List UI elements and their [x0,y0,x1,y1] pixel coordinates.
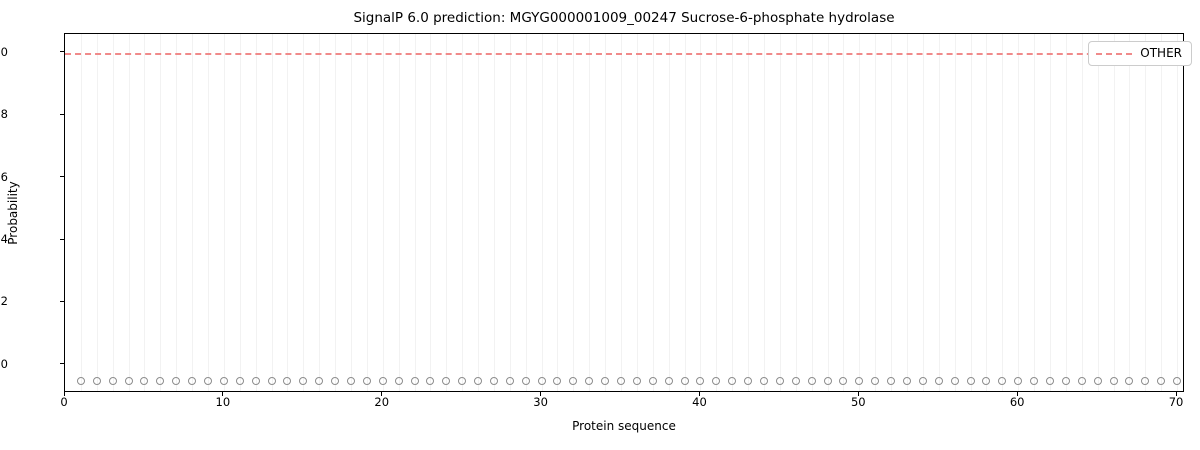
y-tick-mark [60,363,64,364]
residue-letter: P [690,392,710,393]
residue-marker [569,377,577,385]
residue-marker [490,377,498,385]
residue-marker [506,377,514,385]
gridline [383,34,384,391]
gridline [208,34,209,391]
residue-marker [649,377,657,385]
gridline [192,34,193,391]
gridline [287,34,288,391]
other-probability-line [65,53,1183,55]
gridline [1002,34,1003,391]
x-axis-label: Protein sequence [64,419,1184,433]
residue-letter: I [484,392,504,393]
residue-letter: L [611,392,631,393]
gridline [907,34,908,391]
gridline [637,34,638,391]
gridline [1098,34,1099,391]
residue-marker [1078,377,1086,385]
residue-marker [283,377,291,385]
residue-marker [839,377,847,385]
residue-marker [824,377,832,385]
residue-marker [411,377,419,385]
residue-letter: D [532,392,552,393]
residue-letter: G [357,392,377,393]
residue-letter: R [468,392,488,393]
y-tick-label: 0.2 [0,295,8,307]
legend-label-other: OTHER [1140,47,1182,60]
residue-letter: G [929,392,949,393]
residue-marker [919,377,927,385]
residue-marker [1062,377,1070,385]
residue-marker [681,377,689,385]
residue-letter: V [182,392,202,393]
gridline [272,34,273,391]
residue-marker [172,377,180,385]
gridline [875,34,876,391]
residue-letter: D [563,392,583,393]
residue-letter: D [389,392,409,393]
gridline [971,34,972,391]
residue-letter: N [786,392,806,393]
residue-letter: V [659,392,679,393]
residue-letter: E [706,392,726,393]
x-tick-label: 60 [997,396,1037,409]
gridline [399,34,400,391]
gridline [240,34,241,391]
residue-marker [617,377,625,385]
residue-letter: D [246,392,266,393]
residue-marker [474,377,482,385]
gridline [1145,34,1146,391]
residue-letter: K [134,392,154,393]
gridline [129,34,130,391]
residue-marker [744,377,752,385]
y-tick-mark [60,301,64,302]
x-tick-label: 0 [44,396,84,409]
residue-marker [998,377,1006,385]
gridline [367,34,368,391]
y-tick-label: 0.8 [0,108,8,120]
gridline [1050,34,1051,391]
page-title: SignalP 6.0 prediction: MGYG000001009_00… [64,8,1184,28]
gridline [462,34,463,391]
gridline [1114,34,1115,391]
residue-letter: V [881,392,901,393]
gridline [478,34,479,391]
residue-letter: T [198,392,218,393]
residue-marker [331,377,339,385]
residue-marker [1014,377,1022,385]
residue-marker [109,377,117,385]
residue-letter: P [1104,392,1124,393]
y-tick-mark [60,114,64,115]
residue-letter: A [500,392,520,393]
residue-marker [188,377,196,385]
gridline [526,34,527,391]
residue-marker [760,377,768,385]
gridline [1082,34,1083,391]
gridline [176,34,177,391]
gridline [256,34,257,391]
residue-marker [315,377,323,385]
residue-letter: M [71,392,91,393]
gridline [780,34,781,391]
gridline [939,34,940,391]
residue-letter: T [961,392,981,393]
gridline [843,34,844,391]
residue-letter: H [1040,392,1060,393]
x-tick-label: 30 [521,396,561,409]
residue-letter: R [214,392,234,393]
gridline [1161,34,1162,391]
gridline [748,34,749,391]
residue-letter: G [452,392,472,393]
residue-letter: L [595,392,615,393]
gridline [621,34,622,391]
residue-marker [363,377,371,385]
residue-marker [855,377,863,385]
residue-marker [140,377,148,385]
gridline [113,34,114,391]
gridline [430,34,431,391]
gridline [589,34,590,391]
residue-letter: A [341,392,361,393]
residue-letter: K [166,392,186,393]
residue-letter: Y [1024,392,1044,393]
residue-marker [792,377,800,385]
gridline [81,34,82,391]
residue-letter: E [277,392,297,393]
y-axis-label: Probability [6,181,20,244]
residue-marker [601,377,609,385]
plot-area: MFNQKNKVTRADYEQWRAGQDETAGRIASDPDRLLFHVEP… [64,33,1184,392]
residue-marker [1157,377,1165,385]
residue-letter: Q [1056,392,1076,393]
residue-letter: N [150,392,170,393]
residue-letter: A [1151,392,1171,393]
residue-marker [395,377,403,385]
gridline [923,34,924,391]
residue-letter: L [770,392,790,393]
residue-letter: H [992,392,1012,393]
residue-marker [156,377,164,385]
residue-letter: E [675,392,695,393]
residue-letter: F [87,392,107,393]
y-tick-mark [60,176,64,177]
residue-marker [522,377,530,385]
residue-letter: Y [976,392,996,393]
legend-swatch-other [1096,53,1132,55]
residue-marker [903,377,911,385]
residue-marker [1030,377,1038,385]
residue-marker [236,377,244,385]
residue-letter: D [802,392,822,393]
gridline [796,34,797,391]
gridline [1034,34,1035,391]
residue-letter: D [1088,392,1108,393]
gridline [160,34,161,391]
gridline [859,34,860,391]
y-tick-label: 1.0 [0,46,8,58]
x-tick-label: 40 [679,396,719,409]
residue-letter: R [579,392,599,393]
residue-marker [442,377,450,385]
gridline [732,34,733,391]
gridline [542,34,543,391]
gridline [319,34,320,391]
residue-letter: E [405,392,425,393]
gridline [415,34,416,391]
residue-letter: R [325,392,345,393]
gridline [557,34,558,391]
gridline [669,34,670,391]
residue-letter: P [818,392,838,393]
y-tick-mark [60,51,64,52]
residue-letter: P [547,392,567,393]
residue-letter: A [436,392,456,393]
gridline [986,34,987,391]
residue-letter: Y [262,392,282,393]
residue-letter: I [913,392,933,393]
residue-letter: F [627,392,647,393]
residue-letter: L [722,392,742,393]
gridline [494,34,495,391]
gridline [573,34,574,391]
y-tick-mark [60,239,64,240]
residue-letter: Q [373,392,393,393]
residue-marker [538,377,546,385]
residue-marker [585,377,593,385]
residue-marker [935,377,943,385]
residue-marker [299,377,307,385]
residue-letter: G [738,392,758,393]
residue-marker [808,377,816,385]
residue-letter: N [833,392,853,393]
residue-marker [204,377,212,385]
gridline [812,34,813,391]
residue-marker [871,377,879,385]
residue-marker [220,377,228,385]
residue-marker [379,377,387,385]
residue-marker [633,377,641,385]
residue-marker [1125,377,1133,385]
residue-marker [1094,377,1102,385]
residue-marker [951,377,959,385]
residue-marker [728,377,736,385]
x-tick-label: 70 [1156,396,1196,409]
residue-letter: S [516,392,536,393]
gridline [828,34,829,391]
signalp-prediction-figure: SignalP 6.0 prediction: MGYG000001009_00… [0,0,1200,450]
residue-letter: F [1119,392,1139,393]
residue-letter: T [420,392,440,393]
residue-marker [712,377,720,385]
residue-letter: I [1008,392,1028,393]
residue-letter: Y [1072,392,1092,393]
gridline [510,34,511,391]
residue-marker [426,377,434,385]
residue-letter: Q [293,392,313,393]
gridline [1177,34,1178,391]
residue-letter: D [1135,392,1155,393]
residue-marker [696,377,704,385]
gridline [1129,34,1130,391]
residue-marker [458,377,466,385]
residue-letter: G [849,392,869,393]
residue-letter: L [865,392,885,393]
gridline [891,34,892,391]
residue-marker [77,377,85,385]
residue-marker [1110,377,1118,385]
x-tick-label: 10 [203,396,243,409]
gridline [224,34,225,391]
residue-marker [887,377,895,385]
y-tick-label: 0.0 [0,358,8,370]
gridline [764,34,765,391]
residue-letter: H [643,392,663,393]
residue-letter: Q [119,392,139,393]
gridline [1018,34,1019,391]
gridline [335,34,336,391]
residue-letter: W [754,392,774,393]
residue-marker [125,377,133,385]
gridline [351,34,352,391]
gridline [605,34,606,391]
residue-letter: W [309,392,329,393]
residue-marker [252,377,260,385]
residue-marker [1173,377,1181,385]
gridline [1066,34,1067,391]
residue-marker [1141,377,1149,385]
gridline [303,34,304,391]
residue-marker [982,377,990,385]
residue-marker [268,377,276,385]
residue-letter: N [103,392,123,393]
gridline [446,34,447,391]
residue-marker [1046,377,1054,385]
residue-marker [967,377,975,385]
residue-marker [553,377,561,385]
residue-marker [665,377,673,385]
gridline [653,34,654,391]
gridline [685,34,686,391]
x-tick-label: 20 [362,396,402,409]
gridline [716,34,717,391]
gridline [700,34,701,391]
residue-marker [93,377,101,385]
residue-letter: Q [897,392,917,393]
residue-marker [776,377,784,385]
gridline [97,34,98,391]
residue-letter: D [945,392,965,393]
residue-letter: A [230,392,250,393]
x-tick-label: 50 [838,396,878,409]
residue-marker [347,377,355,385]
gridline [955,34,956,391]
legend: OTHER [1088,41,1192,66]
gridline [144,34,145,391]
